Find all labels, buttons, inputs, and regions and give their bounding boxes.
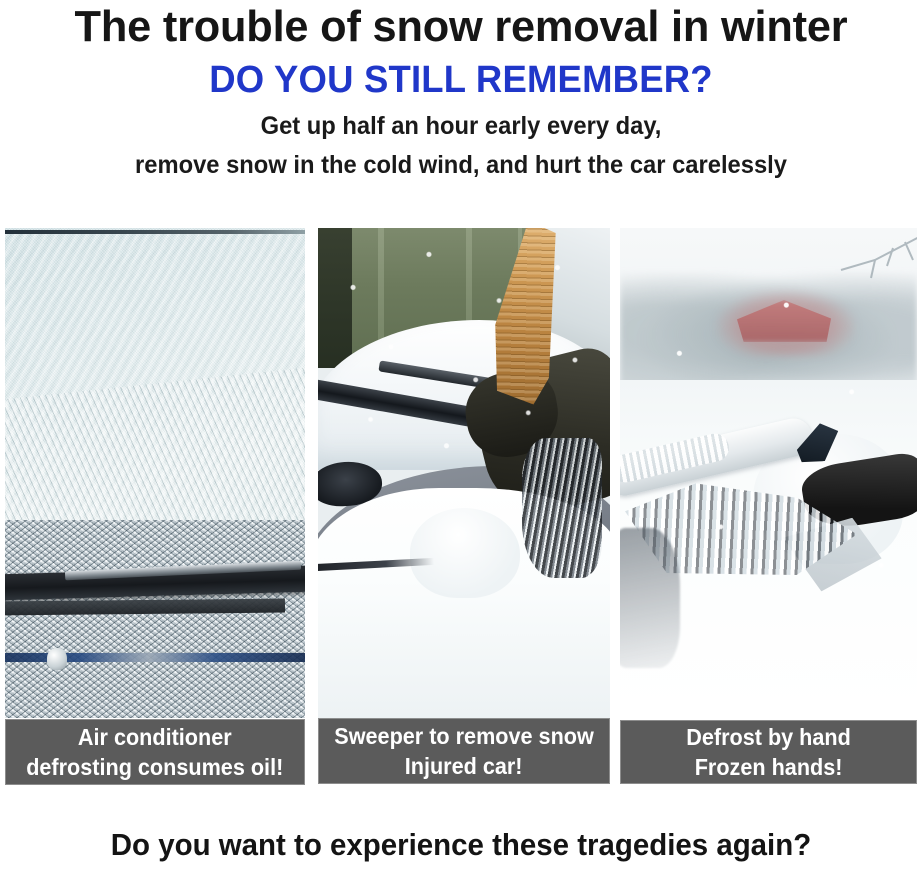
panel-broom-sweeping: Sweeper to remove snow Injured car! — [318, 228, 610, 786]
falling-snow-flecks — [318, 228, 610, 558]
caption-line-1: Sweeper to remove snow — [334, 721, 594, 751]
falling-snow-flecks — [620, 228, 917, 710]
caption-panel-3: Defrost by hand Frozen hands! — [620, 720, 917, 784]
washer-nozzle-icon — [47, 648, 67, 670]
photo-defrost-by-hand — [620, 228, 917, 710]
snow-covered-hood — [5, 520, 305, 718]
photo-broom-sweeping — [318, 228, 610, 718]
photo-row: Air conditioner defrosting consumes oil! — [0, 228, 922, 786]
photo-frosted-windshield — [5, 228, 305, 718]
caption-line-2: Frozen hands! — [695, 752, 843, 782]
infographic-page: The trouble of snow removal in winter DO… — [0, 0, 922, 876]
panel-frosted-windshield: Air conditioner defrosting consumes oil! — [5, 228, 305, 786]
windshield-top-edge — [5, 230, 305, 234]
caption-panel-2: Sweeper to remove snow Injured car! — [318, 718, 610, 784]
caption-line-1: Air conditioner — [78, 722, 232, 752]
tagline-line-1: Get up half an hour early every day, — [23, 104, 899, 143]
caption-line-2: Injured car! — [405, 751, 523, 781]
page-title: The trouble of snow removal in winter — [7, 0, 915, 54]
tagline-line-2: remove snow in the cold wind, and hurt t… — [23, 143, 899, 182]
panel-defrost-by-hand: Defrost by hand Frozen hands! — [620, 228, 917, 786]
headline-block: The trouble of snow removal in winter DO… — [0, 0, 922, 182]
caption-line-2: defrosting consumes oil! — [26, 752, 283, 782]
caption-panel-1: Air conditioner defrosting consumes oil! — [5, 719, 305, 785]
footer-question: Do you want to experience these tragedie… — [23, 826, 899, 864]
wiper-blade-secondary-icon — [5, 599, 285, 616]
page-subtitle: DO YOU STILL REMEMBER? — [18, 54, 903, 104]
caption-line-1: Defrost by hand — [686, 722, 851, 752]
